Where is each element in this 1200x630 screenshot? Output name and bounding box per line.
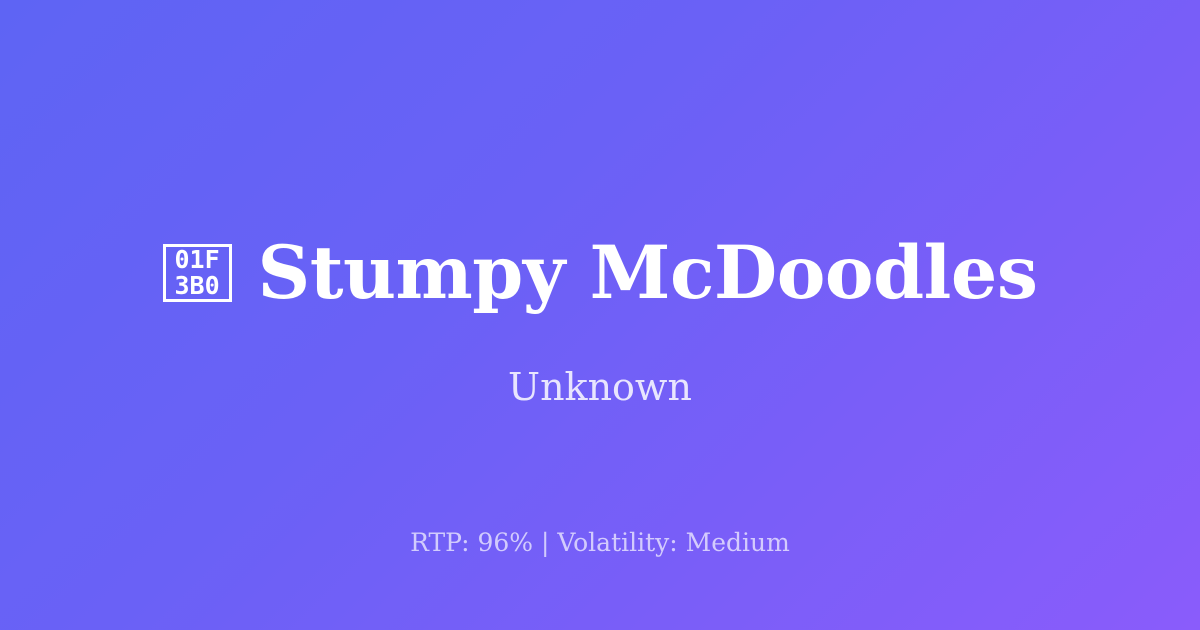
title-line: 01F 3B0 Stumpy McDoodles: [0, 227, 1200, 319]
slot-machine-icon-hex-bottom: 3B0: [174, 273, 219, 299]
game-provider: Unknown: [0, 363, 1200, 411]
slot-machine-icon: 01F 3B0: [163, 244, 232, 302]
game-stats: RTP: 96% | Volatility: Medium: [0, 528, 1200, 558]
game-preview-card: 01F 3B0 Stumpy McDoodles Unknown RTP: 96…: [0, 0, 1200, 630]
card-content: 01F 3B0 Stumpy McDoodles Unknown RTP: 96…: [0, 0, 1200, 630]
game-title: Stumpy McDoodles: [258, 227, 1038, 319]
slot-machine-icon-hex-top: 01F: [174, 247, 219, 273]
